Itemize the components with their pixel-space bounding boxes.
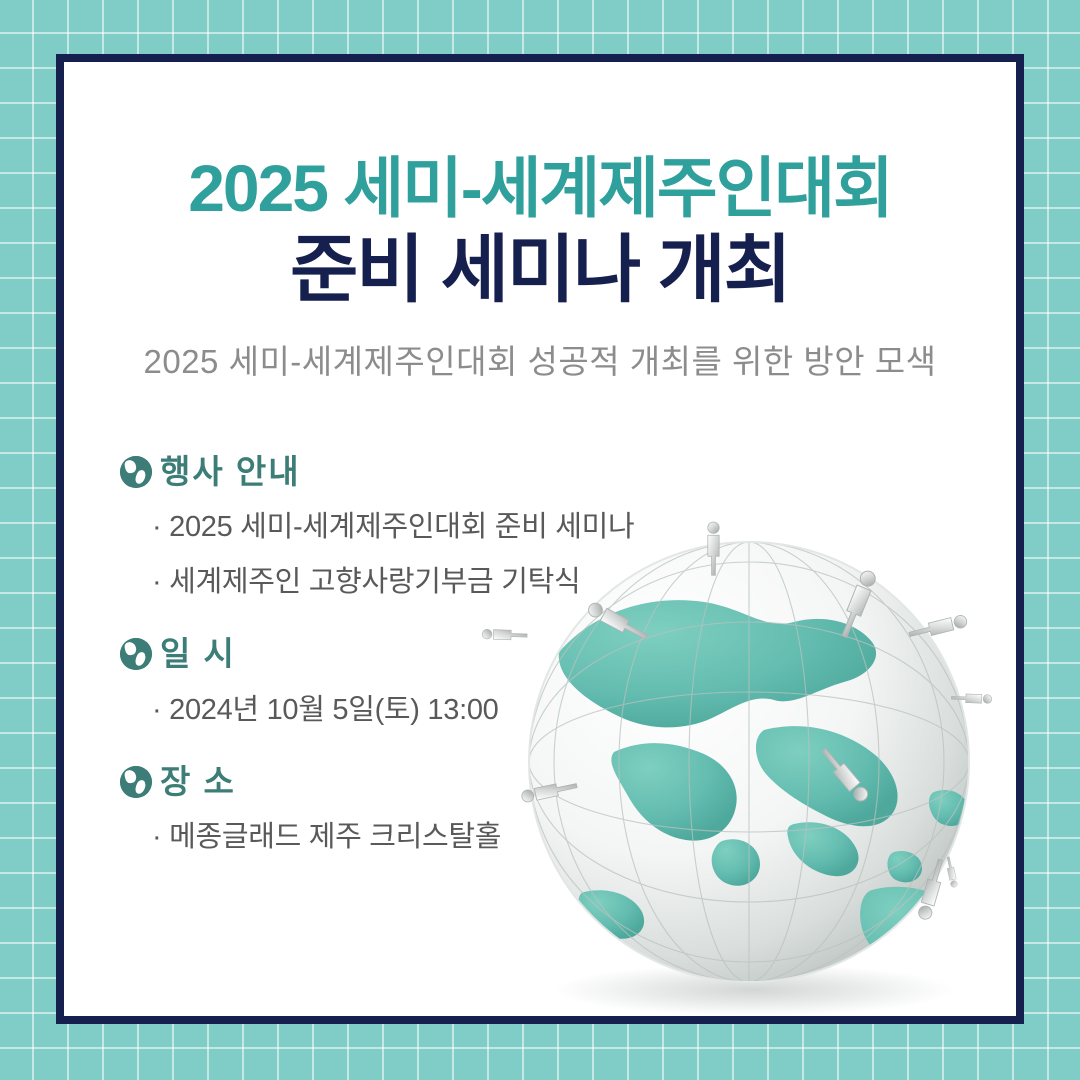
section-line: · 메종글래드 제주 크리스탈홀 <box>152 813 740 855</box>
section-title: 장 소 <box>160 764 236 800</box>
section-line: · 2025 세미-세계제주인대회 준비 세미나 <box>152 503 740 545</box>
globe-icon <box>120 638 152 670</box>
section-header: 행사 안내 <box>120 454 740 490</box>
section-event-info: 행사 안내 · 2025 세미-세계제주인대회 준비 세미나 · 세계제주인 고… <box>120 454 740 600</box>
page-title-line1: 2025 세미-세계제주인대회 <box>64 154 1016 223</box>
section-datetime: 일 시 · 2024년 10월 5일(토) 13:00 <box>120 636 740 727</box>
section-line: · 2024년 10월 5일(토) 13:00 <box>152 686 740 728</box>
section-venue: 장 소 · 메종글래드 제주 크리스탈홀 <box>120 764 740 855</box>
page-title-line2: 준비 세미나 개최 <box>64 231 1016 309</box>
section-title: 일 시 <box>160 636 236 672</box>
info-sections: 행사 안내 · 2025 세미-세계제주인대회 준비 세미나 · 세계제주인 고… <box>120 454 740 891</box>
section-header: 일 시 <box>120 636 740 672</box>
section-title: 행사 안내 <box>160 454 301 490</box>
section-header: 장 소 <box>120 764 740 800</box>
poster-frame: 2025 세미-세계제주인대회 준비 세미나 개최 2025 세미-세계제주인대… <box>56 54 1024 1024</box>
page-subtitle: 2025 세미-세계제주인대회 성공적 개최를 위한 방안 모색 <box>64 335 1016 383</box>
section-line: · 세계제주인 고향사랑기부금 기탁식 <box>152 558 740 600</box>
headline-block: 2025 세미-세계제주인대회 준비 세미나 개최 2025 세미-세계제주인대… <box>64 62 1016 383</box>
globe-icon <box>120 766 152 798</box>
globe-icon <box>120 456 152 488</box>
